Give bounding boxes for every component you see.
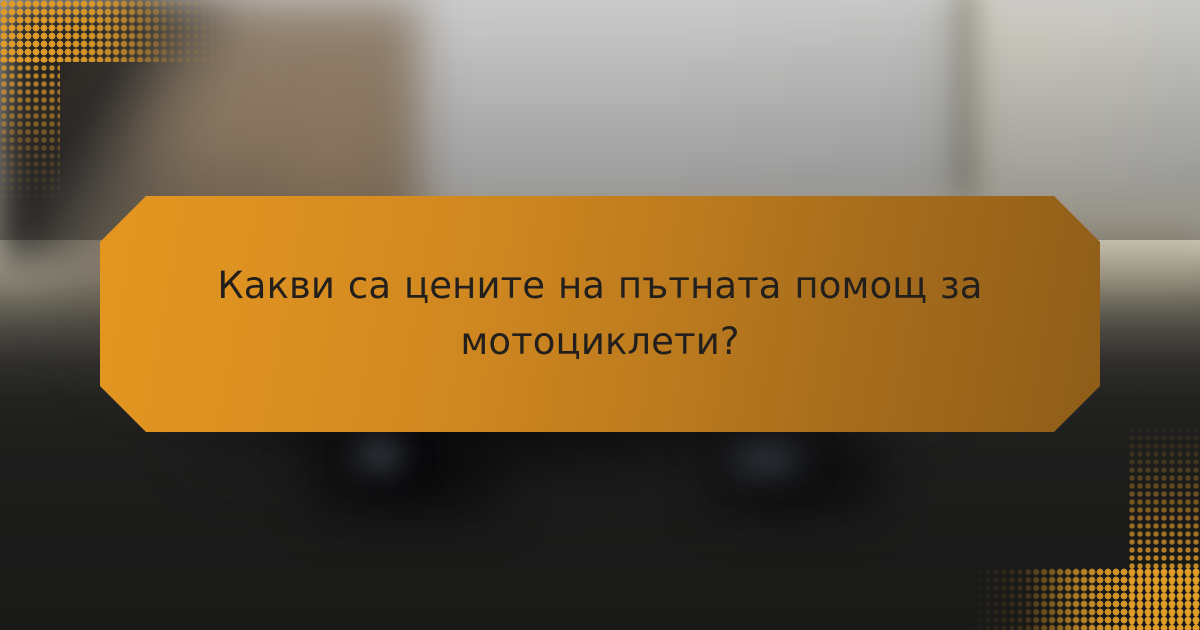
banner-canvas: Какви са цените на пътната помощ за мото… [0, 0, 1200, 630]
background-truck-body [0, 0, 1200, 200]
headline-banner: Какви са цените на пътната помощ за мото… [100, 196, 1100, 432]
halftone-dots-icon [0, 0, 60, 206]
background-highlight-right [722, 438, 814, 482]
halftone-dots-icon [0, 0, 176, 62]
background-highlight-left [350, 432, 410, 478]
halftone-dots-icon [1128, 418, 1200, 630]
page-title: Какви са цените на пътната помощ за мото… [186, 258, 1014, 370]
halftone-dots-icon [968, 568, 1200, 630]
halftone-dots-icon [1024, 568, 1200, 630]
background-stick-shadow [0, 0, 170, 150]
halftone-dots-icon [0, 0, 232, 62]
